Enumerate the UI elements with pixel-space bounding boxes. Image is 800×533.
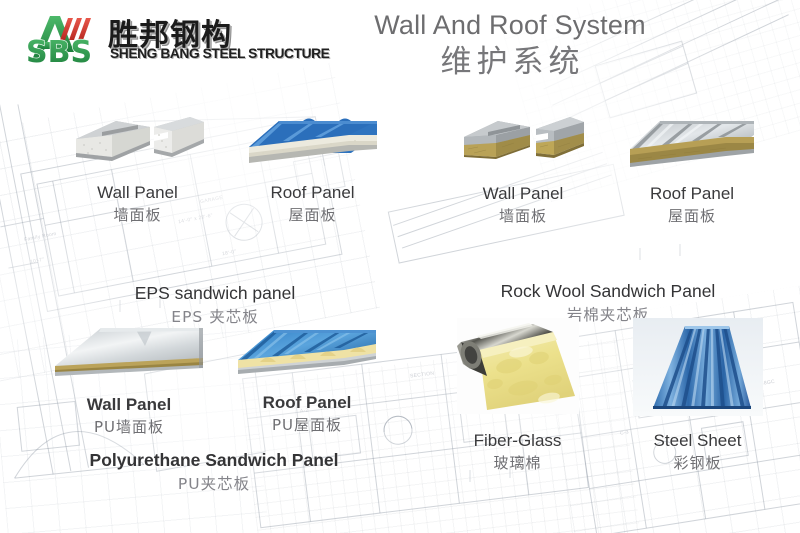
rockwool-wall-panel-label-en: Wall Panel bbox=[438, 183, 608, 205]
page-title: Wall And Roof System 维护系统 bbox=[300, 8, 720, 82]
pu-roof-panel-label-cn: PU屋面板 bbox=[222, 414, 392, 436]
steel-sheet-image bbox=[633, 318, 763, 416]
product-item-eps-roof-panel[interactable]: Roof Panel 屋面板 bbox=[225, 105, 400, 226]
title-chinese: 维护系统 bbox=[300, 42, 720, 82]
product-item-steel-sheet[interactable]: Steel Sheet 彩钢板 bbox=[610, 318, 785, 474]
rockwool-roof-panel-label-en: Roof Panel bbox=[606, 183, 778, 205]
eps-roof-panel-label-en: Roof Panel bbox=[225, 182, 400, 204]
pu-roof-panel-label-en: Roof Panel bbox=[222, 392, 392, 414]
eps-roof-panel-image bbox=[243, 105, 383, 175]
fiber-glass-label-en: Fiber-Glass bbox=[430, 430, 605, 452]
rockwool-wall-panel-image bbox=[458, 109, 588, 177]
eps-wall-panel-label-en: Wall Panel bbox=[50, 182, 225, 204]
company-logo: SBS 胜邦钢构 SHENG BANG STEEL STRUCTURE bbox=[12, 6, 282, 72]
rockwool-roof-panel-label-cn: 屋面板 bbox=[606, 205, 778, 227]
product-item-rockwool-wall-panel[interactable]: Wall Panel 墙面板 bbox=[438, 109, 608, 227]
product-item-fiber-glass[interactable]: Fiber-Glass 玻璃棉 bbox=[430, 318, 605, 474]
eps-wall-panel-image bbox=[68, 105, 208, 175]
pu-wall-panel-label-en: Wall Panel bbox=[40, 394, 218, 416]
slide-canvas: GARAGE 14'-0" x 20'-6" 18'-0" Family Roo… bbox=[0, 0, 800, 533]
sbs-logo-icon: SBS bbox=[12, 8, 112, 68]
product-group-pu: Wall Panel PU墙面板 bbox=[36, 318, 392, 496]
product-group-rockwool: Wall Panel 墙面板 bbox=[438, 105, 778, 327]
product-item-pu-wall-panel[interactable]: Wall Panel PU墙面板 bbox=[40, 318, 218, 438]
product-item-rockwool-roof-panel[interactable]: Roof Panel 屋面板 bbox=[606, 109, 778, 227]
svg-text:SBS: SBS bbox=[26, 35, 92, 68]
pu-group-title-en: Polyurethane Sandwich Panel bbox=[36, 448, 392, 472]
product-group-eps: Wall Panel 墙面板 bbox=[40, 105, 390, 329]
pu-wall-panel-image bbox=[49, 318, 209, 382]
rockwool-roof-panel-image bbox=[626, 109, 758, 177]
title-english: Wall And Roof System bbox=[300, 8, 720, 42]
eps-group-title-en: EPS sandwich panel bbox=[40, 281, 390, 305]
pu-roof-panel-image bbox=[232, 320, 382, 382]
steel-sheet-label-en: Steel Sheet bbox=[610, 430, 785, 452]
rockwool-wall-panel-label-cn: 墙面板 bbox=[438, 205, 608, 227]
logo-english-name: SHENG BANG STEEL STRUCTURE bbox=[110, 46, 329, 61]
steel-sheet-label-cn: 彩钢板 bbox=[610, 452, 785, 474]
pu-wall-panel-label-cn: PU墙面板 bbox=[40, 416, 218, 438]
fiber-glass-image bbox=[457, 318, 579, 414]
eps-wall-panel-label-cn: 墙面板 bbox=[50, 204, 225, 226]
product-item-eps-wall-panel[interactable]: Wall Panel 墙面板 bbox=[50, 105, 225, 226]
eps-roof-panel-label-cn: 屋面板 bbox=[225, 204, 400, 226]
product-item-pu-roof-panel[interactable]: Roof Panel PU屋面板 bbox=[222, 320, 392, 436]
fiber-glass-label-cn: 玻璃棉 bbox=[430, 452, 605, 474]
rockwool-group-title-en: Rock Wool Sandwich Panel bbox=[438, 279, 778, 303]
pu-group-title-cn: PU夹芯板 bbox=[36, 472, 392, 496]
